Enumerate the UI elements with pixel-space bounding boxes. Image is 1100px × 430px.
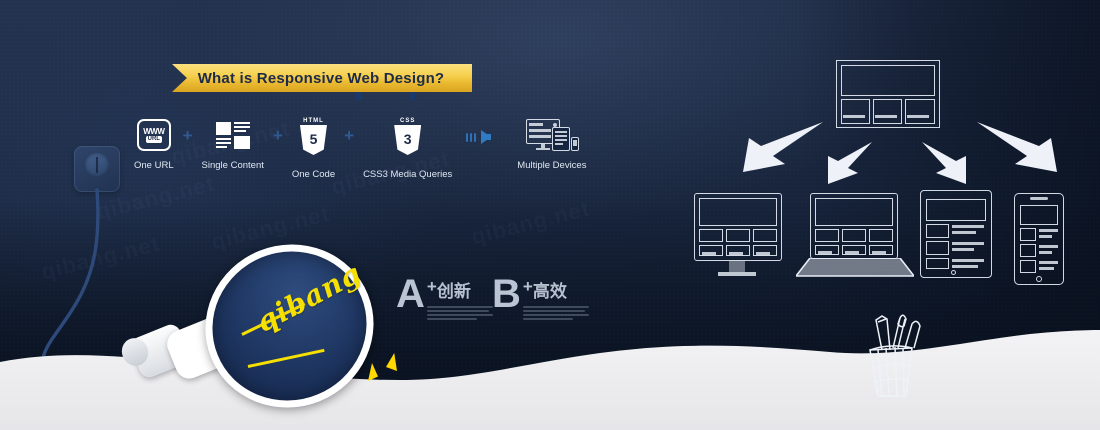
pencil-cup [848,310,938,400]
lightbulb-logo: qibang [30,245,390,420]
spark-mark [368,363,378,381]
hero-banner: qibang.net qibang.net qibang.net qibang.… [0,0,1100,430]
